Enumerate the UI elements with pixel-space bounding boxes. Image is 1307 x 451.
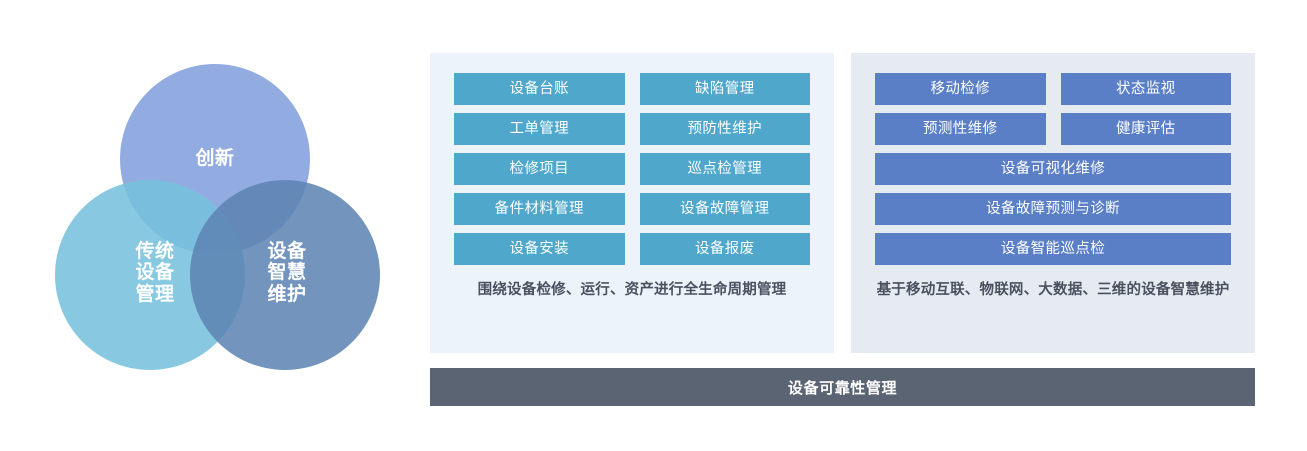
feature-box[interactable]: 设备报废 [640,233,811,265]
footer-bar: 设备可靠性管理 [430,368,1255,406]
box-row: 设备安装 设备报废 [454,233,810,265]
box-row: 预测性维修 健康评估 [875,113,1231,145]
feature-box[interactable]: 设备故障管理 [640,193,811,225]
feature-box[interactable]: 状态监视 [1061,73,1232,105]
feature-box[interactable]: 移动检修 [875,73,1046,105]
box-row: 备件材料管理 设备故障管理 [454,193,810,225]
feature-box[interactable]: 预测性维修 [875,113,1046,145]
feature-box[interactable]: 备件材料管理 [454,193,625,225]
feature-box[interactable]: 设备安装 [454,233,625,265]
feature-box[interactable]: 设备台账 [454,73,625,105]
feature-box[interactable]: 健康评估 [1061,113,1232,145]
box-row: 检修项目 巡点检管理 [454,153,810,185]
panel-traditional-equipment-management: 设备台账 缺陷管理 工单管理 预防性维护 检修项目 巡点检管理 备件材料管理 设… [430,53,834,353]
box-row: 移动检修 状态监视 [875,73,1231,105]
feature-box[interactable]: 预防性维护 [640,113,811,145]
venn-diagram: 创新 传统 设备 管理 设备 智慧 维护 [40,55,400,385]
box-row: 工单管理 预防性维护 [454,113,810,145]
feature-box[interactable]: 检修项目 [454,153,625,185]
feature-box[interactable]: 设备故障预测与诊断 [875,193,1231,225]
feature-box[interactable]: 工单管理 [454,113,625,145]
box-row: 设备台账 缺陷管理 [454,73,810,105]
feature-box[interactable]: 设备可视化维修 [875,153,1231,185]
feature-box[interactable]: 缺陷管理 [640,73,811,105]
feature-box[interactable]: 巡点检管理 [640,153,811,185]
venn-circle-equipment-smart-maintenance [190,180,380,370]
box-row: 设备故障预测与诊断 [875,193,1231,225]
box-row: 设备智能巡点检 [875,233,1231,265]
panel-caption: 基于移动互联、物联网、大数据、三维的设备智慧维护 [875,279,1231,301]
panel-equipment-smart-maintenance: 移动检修 状态监视 预测性维修 健康评估 设备可视化维修 设备故障预测与诊断 设… [851,53,1255,353]
box-row: 设备可视化维修 [875,153,1231,185]
panel-caption: 围绕设备检修、运行、资产进行全生命周期管理 [454,279,810,301]
feature-box[interactable]: 设备智能巡点检 [875,233,1231,265]
footer-bar-label: 设备可靠性管理 [788,377,897,398]
venn-diagram-svg [40,55,400,385]
